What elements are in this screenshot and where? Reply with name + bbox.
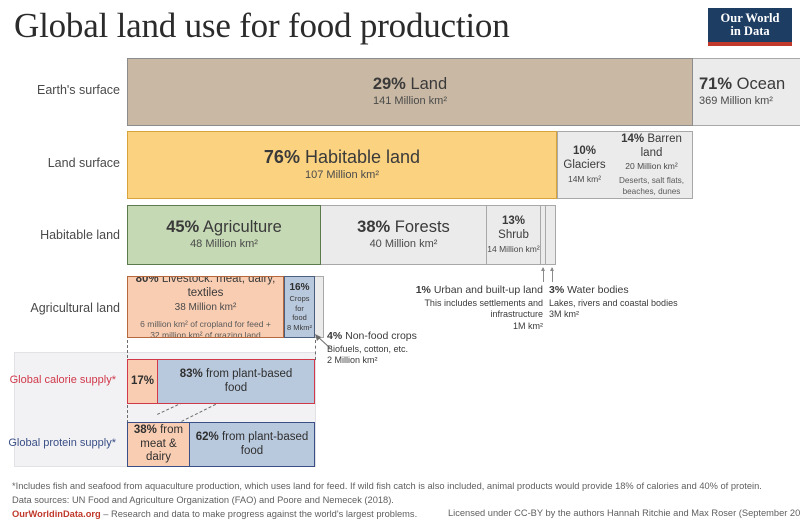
supply-protein-plant-title: 62% from plant-based food — [196, 431, 309, 459]
bar-habitable-forests-name: Forests — [395, 218, 450, 236]
footer-note: *Includes fish and seafood from aquacult… — [12, 480, 792, 494]
footer-sources: Data sources: UN Food and Agriculture Or… — [12, 494, 792, 508]
supply-label-protein: Global protein supply* — [6, 437, 116, 449]
callout-nonfood-crops: 4% Non-food crops Biofuels, cotton, etc.… — [327, 330, 447, 367]
callout-nonfood-pct: 4% — [327, 330, 342, 342]
bar-land-barren-title: 14% Barren land — [611, 133, 692, 161]
callout-water-name: Water bodies — [567, 284, 628, 296]
bar-habitable-shrub-value: 14 Million km² — [487, 244, 539, 255]
bar-land-barren-note: Deserts, salt flats, beaches, dunes — [619, 176, 684, 197]
bar-land-habitable[interactable]: 76% Habitable land 107 Million km² — [127, 131, 557, 199]
supply-calorie-plant-title: 83% from plant-based food — [180, 368, 293, 396]
callout-nonfood-title: 4% Non-food crops — [327, 330, 447, 344]
bar-land-barren[interactable]: 14% Barren land 20 Million km² Deserts, … — [611, 131, 693, 199]
supply-protein-plant-pct: 62% — [196, 431, 219, 443]
footer: *Includes fish and seafood from aquacult… — [12, 480, 792, 522]
bar-habitable-agriculture-name: Agriculture — [203, 218, 282, 236]
callout-nonfood-note: Biofuels, cotton, etc. — [327, 344, 447, 356]
bar-earth-ocean-pct: 71% — [699, 75, 732, 93]
bar-agri-crops-value: 8 Mkm² — [287, 323, 312, 332]
bar-agri-crops-pct: 16% — [289, 282, 309, 293]
callout-water-note: Lakes, rivers and coastal bodies — [549, 298, 709, 310]
callout-water-value: 3M km² — [549, 309, 709, 321]
row-label-earths-surface: Earth's surface — [8, 83, 120, 97]
callout-urban-name: Urban and built-up land — [434, 284, 543, 296]
supply-calorie-animal[interactable]: 17% — [127, 359, 158, 404]
bar-earth-ocean-name: Ocean — [737, 75, 786, 93]
bar-land-habitable-pct: 76% — [264, 147, 300, 167]
leader-urban-tick — [543, 268, 544, 282]
bar-earth-ocean-title: 71% Ocean — [699, 75, 785, 93]
bar-habitable-agriculture[interactable]: 45% Agriculture 48 Million km² — [127, 205, 321, 265]
bar-habitable-shrub-pct: 13% — [502, 215, 525, 227]
supply-protein-plant[interactable]: 62% from plant-based food — [190, 422, 315, 467]
callout-urban-title: 1% Urban and built-up land — [408, 284, 543, 298]
bar-land-barren-name: Barren land — [641, 133, 682, 159]
bar-habitable-agriculture-pct: 45% — [166, 218, 199, 236]
logo-line-2: in Data — [730, 25, 769, 39]
bar-agri-crops-for-food[interactable]: 16% Crops for food 8 Mkm² — [284, 276, 315, 338]
header: Global land use for food production Our … — [0, 0, 800, 56]
bar-land-glaciers-title: 10% Glaciers — [558, 145, 611, 173]
owid-link[interactable]: OurWorldinData.org — [12, 509, 101, 519]
bar-agri-livestock-note: 6 million km² of cropland for feed + 32 … — [140, 319, 271, 339]
bar-earth-ocean-value: 369 Million km² — [699, 95, 773, 109]
bar-agri-livestock-title: 80% Livestock: meat, dairy, textiles — [128, 276, 283, 301]
callout-water-title: 3% Water bodies — [549, 284, 709, 298]
bar-habitable-agriculture-value: 48 Million km² — [190, 238, 258, 252]
bar-earth-land-name: Land — [410, 75, 447, 93]
supply-label-calorie: Global calorie supply* — [6, 374, 116, 386]
our-world-in-data-logo[interactable]: Our World in Data — [708, 8, 792, 46]
connector-mid-dashed — [315, 340, 316, 360]
bar-agri-livestock-pct: 80% — [136, 276, 159, 285]
bar-habitable-shrub-name: Shrub — [498, 229, 529, 241]
callout-water-pct: 3% — [549, 284, 564, 296]
bar-agri-livestock-value: 38 Million km² — [175, 302, 237, 315]
row-label-habitable-land: Habitable land — [8, 228, 120, 242]
callout-nonfood-value: 2 Million km² — [327, 355, 447, 367]
supply-calorie-animal-pct: 17% — [131, 375, 154, 389]
bar-habitable-shrub[interactable]: 13% Shrub 14 Million km² — [487, 205, 541, 265]
bar-agri-nonfood-crops[interactable] — [315, 276, 324, 338]
bar-land-habitable-value: 107 Million km² — [305, 169, 379, 183]
bar-land-habitable-name: Habitable land — [305, 147, 420, 167]
bar-earth-land[interactable]: 29% Land 141 Million km² — [127, 58, 693, 126]
bar-agri-crops-name: Crops for food — [285, 294, 314, 322]
bar-land-glaciers-pct: 10% — [573, 145, 596, 157]
bar-land-glaciers-name: Glaciers — [563, 159, 605, 171]
bar-habitable-forests-value: 40 Million km² — [370, 238, 438, 252]
footer-license: Licensed under CC-BY by the authors Hann… — [448, 508, 800, 518]
supply-protein-animal[interactable]: 38% from meat & dairy — [127, 422, 190, 467]
bar-habitable-water[interactable] — [546, 205, 556, 265]
bar-land-glaciers[interactable]: 10% Glaciers 14M km² — [557, 131, 612, 199]
bar-agri-livestock[interactable]: 80% Livestock: meat, dairy, textiles 38 … — [127, 276, 284, 338]
leader-water-tick — [552, 268, 553, 282]
bar-habitable-agriculture-title: 45% Agriculture — [166, 218, 282, 236]
callout-urban-note: This includes settlements and infrastruc… — [408, 298, 543, 321]
bar-land-glaciers-value: 14M km² — [568, 174, 601, 185]
bar-habitable-forests-title: 38% Forests — [357, 218, 450, 236]
bar-land-habitable-title: 76% Habitable land — [264, 147, 420, 167]
supply-calorie-plant-name: from plant-based food — [206, 368, 292, 394]
supply-calorie-plant-pct: 83% — [180, 368, 203, 380]
logo-line-1: Our World — [721, 12, 780, 26]
bar-earth-ocean[interactable]: 71% Ocean 369 Million km² — [693, 58, 800, 126]
bar-agri-livestock-name: Livestock: meat, dairy, textiles — [162, 276, 276, 299]
page-title: Global land use for food production — [14, 6, 510, 46]
callout-urban: 1% Urban and built-up land This includes… — [408, 284, 543, 333]
bar-earth-land-title: 29% Land — [373, 75, 447, 93]
callout-urban-pct: 1% — [416, 284, 431, 296]
supply-protein-animal-title: 38% from meat & dairy — [128, 424, 189, 465]
callout-water: 3% Water bodies Lakes, rivers and coasta… — [549, 284, 709, 321]
row-label-agricultural-land: Agricultural land — [0, 301, 120, 315]
supply-calorie-plant[interactable]: 83% from plant-based food — [158, 359, 315, 404]
supply-protein-animal-pct: 38% — [134, 424, 157, 436]
footer-tagline: – Research and data to make progress aga… — [101, 509, 418, 519]
supply-protein-plant-name: from plant-based food — [222, 431, 308, 457]
bar-habitable-forests-pct: 38% — [357, 218, 390, 236]
callout-nonfood-name: Non-food crops — [345, 330, 417, 342]
bar-earth-land-value: 141 Million km² — [373, 95, 447, 109]
bar-habitable-forests[interactable]: 38% Forests 40 Million km² — [321, 205, 487, 265]
bar-earth-land-pct: 29% — [373, 75, 406, 93]
bar-land-barren-pct: 14% — [621, 133, 644, 145]
row-label-land-surface: Land surface — [8, 156, 120, 170]
bar-land-barren-value: 20 Million km² — [625, 161, 677, 172]
bar-habitable-shrub-title: 13% Shrub — [487, 215, 540, 243]
